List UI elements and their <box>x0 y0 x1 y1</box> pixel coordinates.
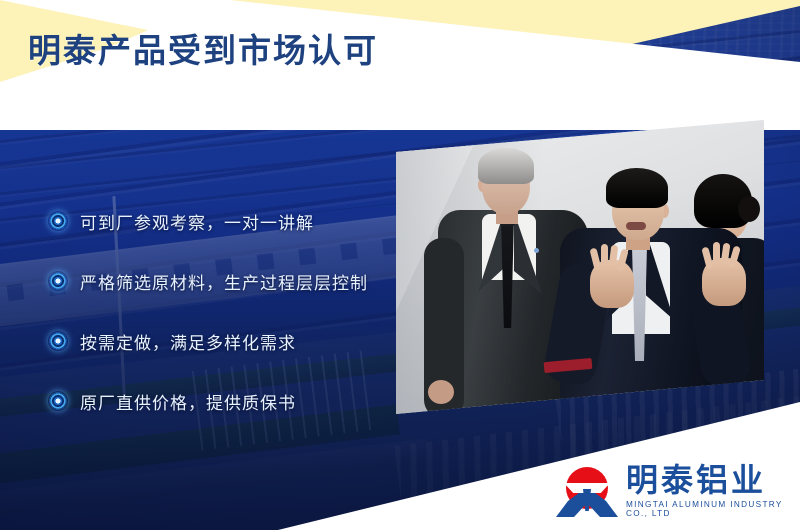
list-item: 可到厂参观考察，一对一讲解 <box>48 208 388 234</box>
page-title: 明泰产品受到市场认可 <box>28 24 378 72</box>
target-dot-icon <box>48 271 68 291</box>
person-center-hair <box>606 168 668 208</box>
target-dot-icon <box>48 211 68 231</box>
list-item: 严格筛选原材料，生产过程层层控制 <box>48 268 388 294</box>
logo-center-crossbar <box>578 495 596 499</box>
list-item-label: 原厂直供价格，提供质保书 <box>80 389 296 414</box>
person-left-hair <box>478 148 534 184</box>
brand-logo-text: 明泰铝业 MINGTAI ALUMINUM INDUSTRY CO., LTD <box>626 464 794 518</box>
business-people-photo <box>394 118 766 418</box>
mingtai-sun-mountain-icon <box>556 465 618 517</box>
person-center-mouth <box>626 222 646 230</box>
brand-logo: 明泰铝业 MINGTAI ALUMINUM INDUSTRY CO., LTD <box>556 462 794 520</box>
person-center-hand-right <box>702 258 746 306</box>
person-woman-hair-bun <box>738 196 760 222</box>
list-item-label: 按需定做，满足多样化需求 <box>80 329 296 354</box>
target-dot-icon <box>48 331 68 351</box>
banner-stage: 明泰产品受到市场认可 可到厂参观考察，一对一讲解 严格筛选原材料，生产过程层层控… <box>0 0 800 530</box>
person-left-lapel-pin <box>534 248 539 253</box>
person-center-hand-left <box>590 260 634 308</box>
person-left-hand <box>428 380 454 404</box>
list-item: 原厂直供价格，提供质保书 <box>48 388 388 414</box>
list-item-label: 可到厂参观考察，一对一讲解 <box>80 209 314 234</box>
list-item-label: 严格筛选原材料，生产过程层层控制 <box>80 269 368 294</box>
brand-name-en: MINGTAI ALUMINUM INDUSTRY CO., LTD <box>626 500 794 518</box>
list-item: 按需定做，满足多样化需求 <box>48 328 388 354</box>
feature-list: 可到厂参观考察，一对一讲解 严格筛选原材料，生产过程层层控制 按需定做，满足多样… <box>48 208 388 448</box>
brand-name-cn: 明泰铝业 <box>626 464 794 496</box>
target-dot-icon <box>48 391 68 411</box>
